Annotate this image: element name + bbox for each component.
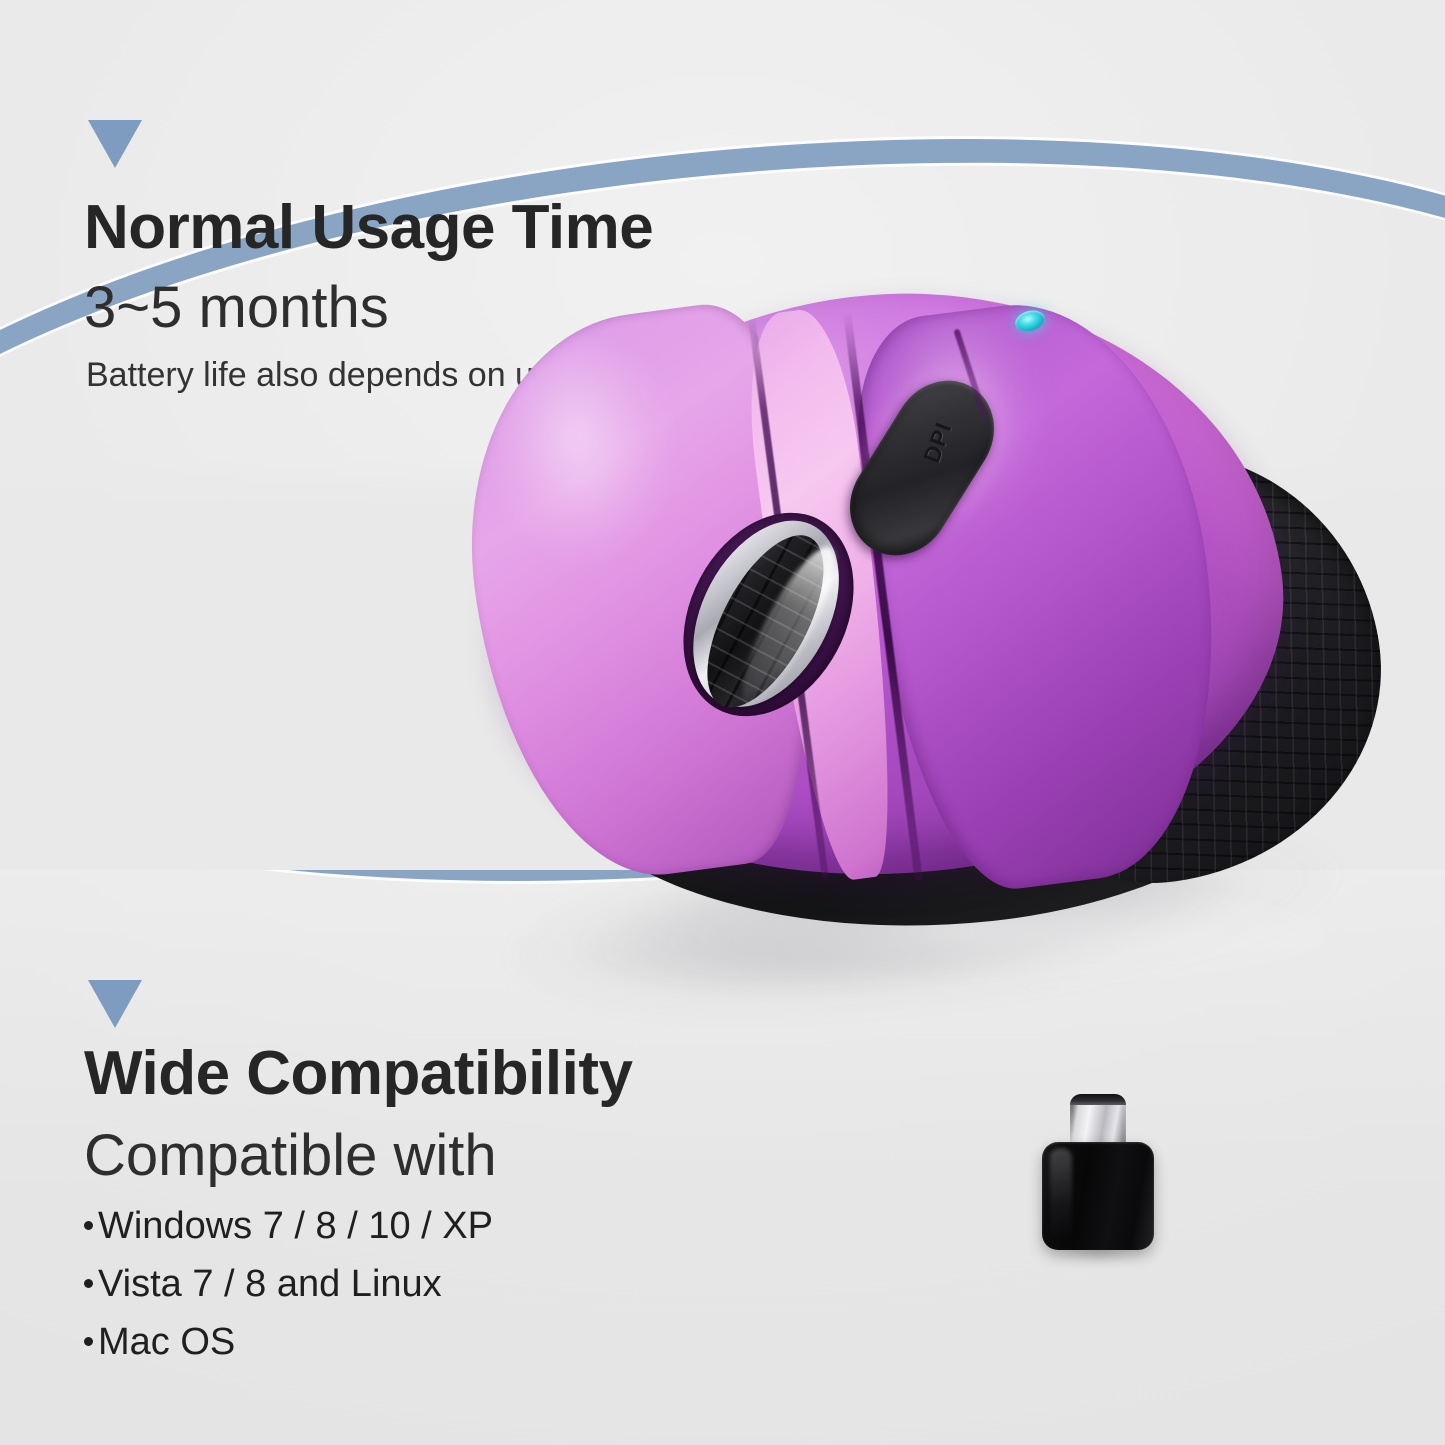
compatibility-headline: Wide Compatibility (84, 1042, 632, 1105)
list-item-label: Windows 7 / 8 / 10 / XP (98, 1205, 493, 1247)
compatibility-list: Windows 7 / 8 / 10 / XP Vista 7 / 8 and … (84, 1198, 493, 1371)
bullet-dot-icon (84, 1279, 93, 1288)
usb-c-connector-cap (1070, 1094, 1126, 1105)
product-infographic: Normal Usage Time 3~5 months Battery lif… (0, 0, 1445, 1445)
list-item: Vista 7 / 8 and Linux (84, 1256, 493, 1314)
compatibility-subhead: Compatible with (84, 1126, 497, 1187)
bullet-dot-icon (84, 1337, 93, 1346)
wireless-mouse-image: DPI (455, 275, 1415, 1005)
bullet-dot-icon (84, 1221, 93, 1230)
list-item: Mac OS (84, 1314, 493, 1372)
list-item: Windows 7 / 8 / 10 / XP (84, 1198, 493, 1256)
down-triangle-icon-compatibility (88, 980, 142, 1028)
dpi-button-label: DPI (918, 418, 958, 466)
adapter-body (1042, 1142, 1154, 1250)
usage-subhead: 3~5 months (84, 278, 389, 339)
list-item-label: Vista 7 / 8 and Linux (98, 1263, 442, 1305)
down-triangle-icon-usage (88, 120, 142, 168)
adapter-body-gloss (1050, 1148, 1072, 1241)
usb-c-adapter-image (1038, 1094, 1158, 1254)
usage-headline: Normal Usage Time (84, 196, 653, 259)
list-item-label: Mac OS (98, 1321, 235, 1363)
